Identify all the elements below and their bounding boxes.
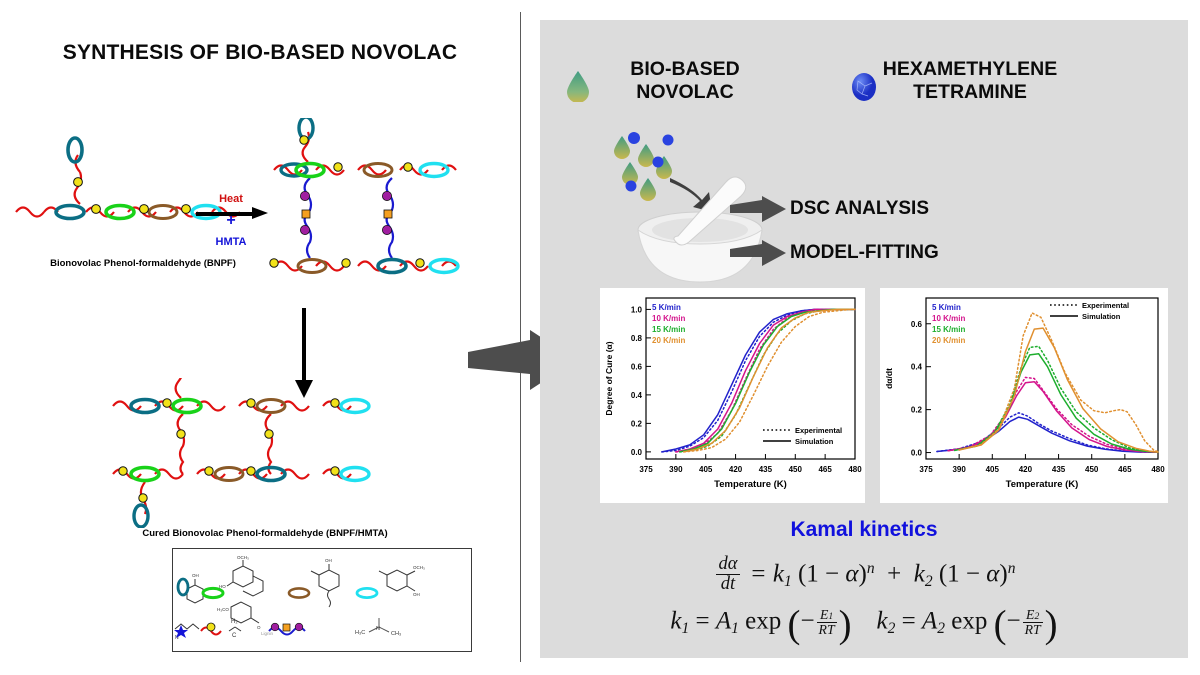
svg-text:Simulation: Simulation <box>795 437 834 446</box>
plus-symbol: + <box>196 213 266 229</box>
equation-rate: dαdt = k1 (1 − α)n + k2 (1 − α)n <box>540 556 1188 596</box>
svg-text:OH: OH <box>192 573 199 578</box>
svg-text:OH: OH <box>325 558 332 563</box>
svg-text:5 K/min: 5 K/min <box>652 303 681 312</box>
svg-text:H₃CO: H₃CO <box>217 607 229 612</box>
svg-text:10 K/min: 10 K/min <box>932 314 965 323</box>
hmta-label: HMTA <box>196 236 266 248</box>
step-model-fitting: MODEL-FITTING <box>790 242 939 264</box>
svg-text:435: 435 <box>1052 465 1066 474</box>
svg-text:420: 420 <box>729 465 743 474</box>
equation-arrhenius: k1 = A1 exp (−E1RT) k2 = A2 exp (−E2RT) <box>540 602 1188 647</box>
svg-text:Lignin: Lignin <box>261 631 274 636</box>
svg-text:480: 480 <box>1151 465 1165 474</box>
svg-text:375: 375 <box>639 465 653 474</box>
reactant-caption: Bionovolac Phenol-formaldehyde (BNPF) <box>18 258 268 270</box>
svg-text:405: 405 <box>986 465 1000 474</box>
cured-bnpf-diagram <box>105 378 425 528</box>
svg-text:0.4: 0.4 <box>631 391 643 400</box>
svg-text:Degree of Cure (α): Degree of Cure (α) <box>604 341 614 415</box>
svg-text:480: 480 <box>848 465 862 474</box>
svg-text:390: 390 <box>669 465 683 474</box>
graphical-abstract: SYNTHESIS OF BIO-BASED NOVOLAC <box>0 0 1200 675</box>
svg-text:0.6: 0.6 <box>631 362 643 371</box>
svg-text:Experimental: Experimental <box>795 426 842 435</box>
svg-text:0.8: 0.8 <box>631 334 643 343</box>
svg-text:O: O <box>257 625 261 630</box>
green-droplet-icon <box>565 70 591 102</box>
svg-text:H₂: H₂ <box>231 619 238 625</box>
chart-degree-of-cure: 3753904054204354504654800.00.20.40.60.81… <box>600 288 865 503</box>
svg-text:450: 450 <box>1085 465 1099 474</box>
dsc-arrow-icon <box>730 196 786 222</box>
step-dsc-analysis: DSC ANALYSIS <box>790 198 929 220</box>
model-fitting-arrow-icon <box>730 240 786 266</box>
svg-text:375: 375 <box>919 465 933 474</box>
page-title: SYNTHESIS OF BIO-BASED NOVOLAC <box>40 40 480 66</box>
left-panel-synthesis: SYNTHESIS OF BIO-BASED NOVOLAC <box>0 0 520 675</box>
svg-text:OCH₃: OCH₃ <box>237 555 249 560</box>
svg-text:CH₃: CH₃ <box>391 631 401 637</box>
svg-text:20 K/min: 20 K/min <box>932 336 965 345</box>
product-caption: Cured Bionovolac Phenol-formaldehyde (BN… <box>120 528 410 540</box>
right-panel-curing-analysis: BIO-BASED NOVOLAC HEXAMETHYLENE TETRAMIN… <box>540 20 1188 658</box>
svg-text:465: 465 <box>818 465 832 474</box>
svg-text:435: 435 <box>759 465 773 474</box>
svg-text:420: 420 <box>1019 465 1033 474</box>
svg-text:0.0: 0.0 <box>631 448 643 457</box>
svg-text:0.2: 0.2 <box>911 406 923 415</box>
svg-text:dα/dt: dα/dt <box>884 368 894 389</box>
svg-text:15 K/min: 15 K/min <box>652 325 685 334</box>
svg-text:0.2: 0.2 <box>631 419 643 428</box>
svg-text:OCH₃: OCH₃ <box>413 565 425 570</box>
heat-label: Heat <box>196 193 266 205</box>
svg-text:405: 405 <box>699 465 713 474</box>
svg-text:450: 450 <box>789 465 803 474</box>
svg-text:0.4: 0.4 <box>911 363 923 372</box>
kamal-kinetics-title: Kamal kinetics <box>540 518 1188 542</box>
svg-text:15 K/min: 15 K/min <box>932 325 965 334</box>
svg-text:Simulation: Simulation <box>1082 312 1121 321</box>
svg-text:H₃C: H₃C <box>355 630 365 636</box>
svg-text:10 K/min: 10 K/min <box>652 314 685 323</box>
svg-text:N: N <box>376 626 380 632</box>
chart-rate-of-cure: 3753904054204354504654800.00.20.40.6Temp… <box>880 288 1168 503</box>
legend-box: OH OCH₃ HO H₃CO O Lignin OH <box>172 548 472 652</box>
header-hexamethylene-tetramine: HEXAMETHYLENE TETRAMINE <box>840 58 1100 105</box>
header-bio-based-novolac: BIO-BASED NOVOLAC <box>590 58 780 105</box>
svg-text:0.6: 0.6 <box>911 320 923 329</box>
svg-text:5 K/min: 5 K/min <box>932 303 961 312</box>
svg-text:Experimental: Experimental <box>1082 301 1129 310</box>
svg-text:390: 390 <box>952 465 966 474</box>
svg-text:C: C <box>232 633 237 639</box>
svg-text:20 K/min: 20 K/min <box>652 336 685 345</box>
svg-text:465: 465 <box>1118 465 1132 474</box>
crosslinked-network-diagram <box>268 118 518 293</box>
svg-text:0.0: 0.0 <box>911 449 923 458</box>
svg-text:OH: OH <box>413 592 420 597</box>
svg-text:Temperature (K): Temperature (K) <box>1006 479 1079 490</box>
legend-structures: OH OCH₃ HO H₃CO O Lignin OH <box>173 549 469 649</box>
svg-text:Temperature (K): Temperature (K) <box>714 479 787 490</box>
svg-text:1.0: 1.0 <box>631 305 643 314</box>
kamal-equations: dαdt = k1 (1 − α)n + k2 (1 − α)n k1 = A1… <box>540 550 1188 653</box>
